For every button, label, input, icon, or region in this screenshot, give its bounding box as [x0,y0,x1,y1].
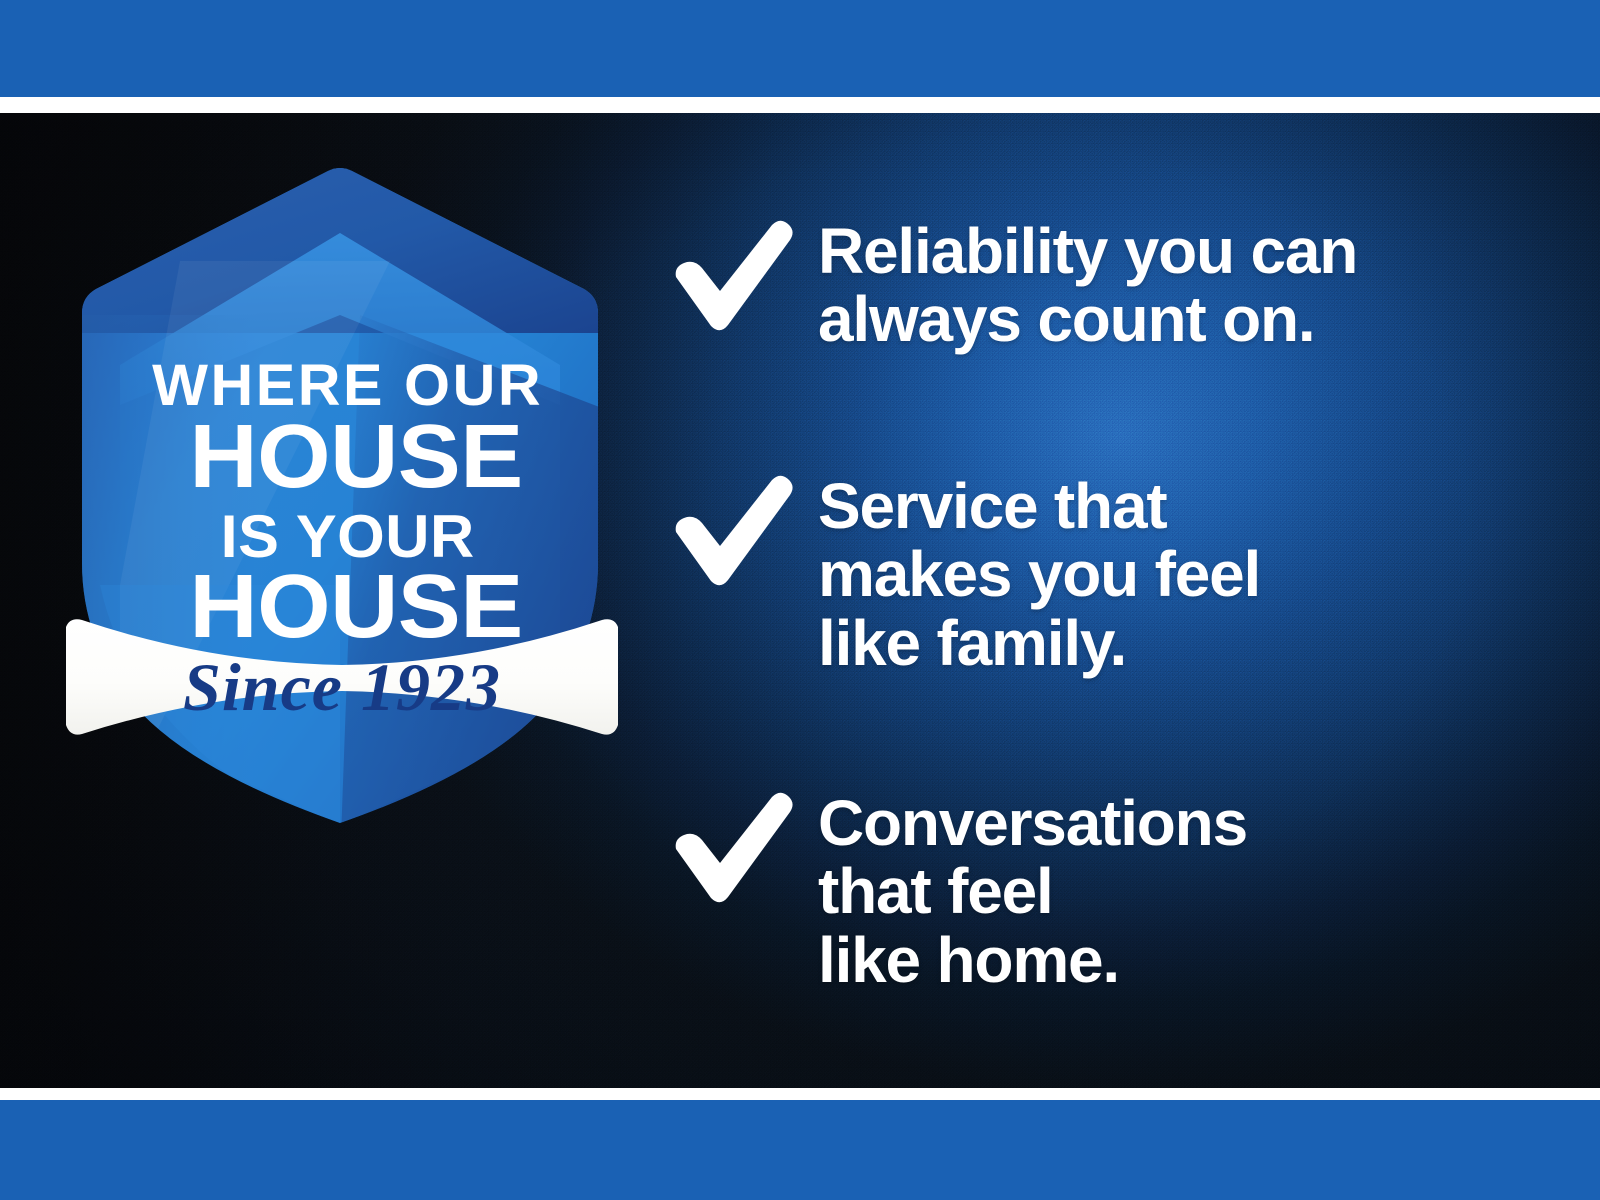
badge-headline: WHERE OUR HOUSE IS YOUR HOUSE [152,354,543,657]
benefit-item-3: Conversations that feel like home. [668,785,1247,994]
checkmark-icon [668,474,796,590]
benefits-list: Reliability you can always count on. Ser… [668,113,1548,1088]
top-brand-band [0,0,1600,97]
benefit-item-1: Reliability you can always count on. [668,213,1357,354]
ribbon-text: Since 1923 [183,649,501,725]
benefit-text-1: Reliability you can always count on. [818,213,1357,354]
checkmark-icon [668,791,796,907]
benefit-item-2: Service that makes you feel like family. [668,468,1260,677]
checkmark-icon [668,219,796,335]
bottom-white-divider [0,1088,1600,1100]
marketing-poster: WHERE OUR HOUSE IS YOUR HOUSE Since 1923… [0,0,1600,1200]
benefit-text-2: Service that makes you feel like family. [818,468,1260,677]
top-white-divider [0,97,1600,113]
benefit-text-3: Conversations that feel like home. [818,785,1247,994]
badge-line-4: HOUSE [189,555,522,656]
badge-line-2: HOUSE [189,405,522,506]
shield-badge: WHERE OUR HOUSE IS YOUR HOUSE Since 1923 [60,165,620,825]
bottom-brand-band [0,1100,1600,1200]
